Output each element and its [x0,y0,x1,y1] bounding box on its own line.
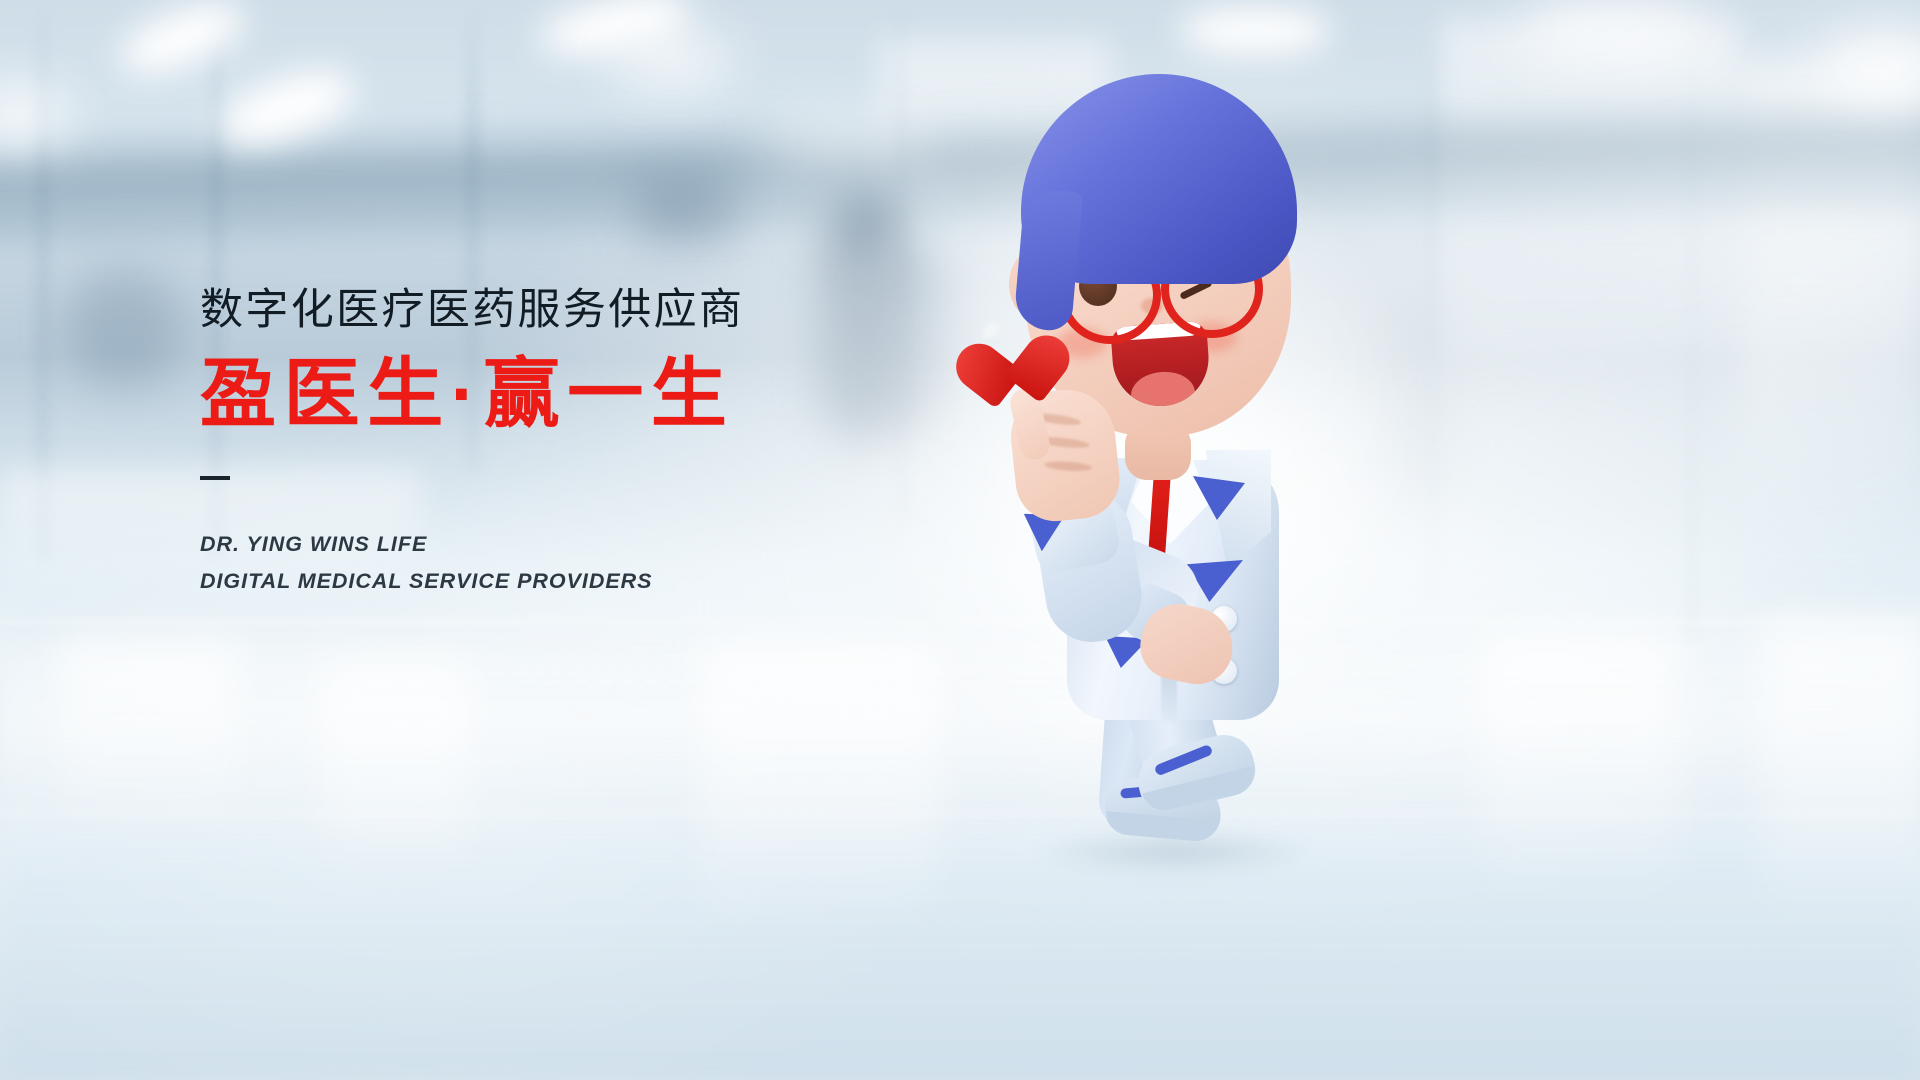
floor-reflection [700,640,940,940]
heart-highlight [979,320,1002,342]
knuckle-crease [1044,460,1093,472]
floor-reflection [1760,620,1920,940]
shoe-stripe [1154,744,1214,777]
heart-icon [969,306,1054,391]
floor-reflection [60,640,240,840]
hero-headline: 盈医生·赢一生 [200,354,960,436]
hero-copy: 数字化医疗医药服务供应商 盈医生·赢一生 DR. YING WINS LIFE … [200,286,960,600]
english-line-2: DIGITAL MEDICAL SERVICE PROVIDERS [200,563,960,600]
hero-kicker: 数字化医疗医药服务供应商 [200,286,960,334]
tongue [1130,370,1197,409]
doctor-illustration [955,40,1375,860]
floor-reflection [320,660,470,890]
hero-banner: 数字化医疗医药服务供应商 盈医生·赢一生 DR. YING WINS LIFE … [0,0,1920,1080]
hero-english: DR. YING WINS LIFE DIGITAL MEDICAL SERVI… [200,526,960,600]
floor-reflection [1480,630,1680,910]
english-line-1: DR. YING WINS LIFE [200,526,960,563]
headline-divider [200,476,230,480]
